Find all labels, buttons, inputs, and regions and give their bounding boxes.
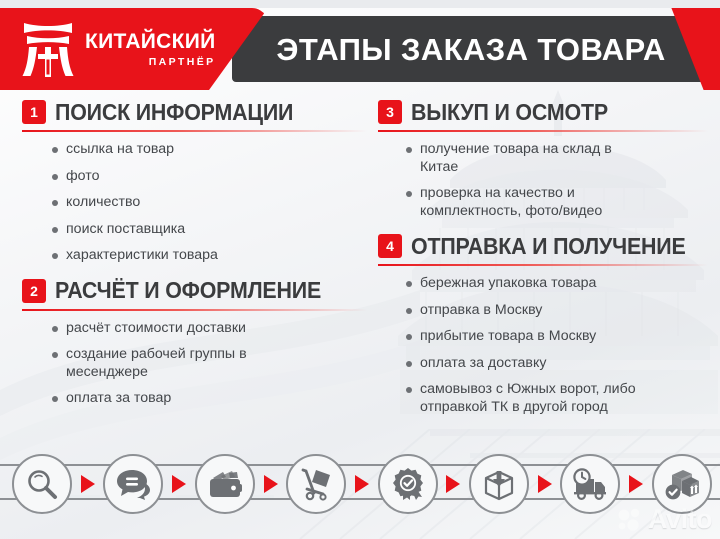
red-triangle-arrow-icon [81,475,95,493]
promo-infographic: ЭТАПЫ ЗАКАЗА ТОВАРА КИТАЙСКИЙ ПАРТНЁР [0,0,720,539]
section-3-rule [378,130,708,132]
red-triangle-arrow-icon [355,475,369,493]
delivery-truck-clock-icon[interactable] [560,454,620,514]
section-1-rule [22,130,367,132]
section-1-title: ПОИСК ИНФОРМАЦИИ [55,101,293,124]
section-2: 2 РАСЧЁТ И ОФОРМЛЕНИЕ расчёт стоимости д… [22,279,367,408]
list-item: количество [52,194,367,212]
wallet-icon[interactable] [195,454,255,514]
avito-watermark-text: Avito [648,506,712,533]
list-item: фото [52,168,367,186]
section-3-header: 3 ВЫКУП И ОСМОТР [378,100,708,130]
quality-badge-icon[interactable] [378,454,438,514]
process-steps-row [12,443,712,525]
brand-logo-text: КИТАЙСКИЙ ПАРТНЁР [85,31,216,68]
list-item: самовывоз с Южных ворот, либо отправкой … [406,381,688,416]
list-item: оплата за доставку [406,355,708,373]
section-4-header: 4 ОТПРАВКА И ПОЛУЧЕНИЕ [378,234,708,264]
section-2-rule [22,309,367,311]
section-2-header: 2 РАСЧЁТ И ОФОРМЛЕНИЕ [22,279,367,309]
section-2-title: РАСЧЁТ И ОФОРМЛЕНИЕ [55,279,321,302]
red-triangle-arrow-icon [172,475,186,493]
header-banner: ЭТАПЫ ЗАКАЗА ТОВАРА КИТАЙСКИЙ ПАРТНЁР [0,8,720,92]
section-2-number: 2 [22,279,46,303]
section-4-title: ОТПРАВКА И ПОЛУЧЕНИЕ [411,235,686,258]
column-left: 1 ПОИСК ИНФОРМАЦИИ ссылка на товар фото … [22,100,367,417]
page-title: ЭТАПЫ ЗАКАЗА ТОВАРА [246,16,696,82]
brand-logo[interactable]: КИТАЙСКИЙ ПАРТНЁР [20,20,216,78]
section-1-number: 1 [22,100,46,124]
avito-dots-icon [618,508,644,532]
section-1: 1 ПОИСК ИНФОРМАЦИИ ссылка на товар фото … [22,100,367,265]
red-triangle-arrow-icon [629,475,643,493]
top-strip [0,0,720,8]
list-item: расчёт стоимости доставки [52,320,367,338]
list-item: ссылка на товар [52,141,367,159]
chat-bubbles-icon[interactable] [103,454,163,514]
red-triangle-arrow-icon [538,475,552,493]
list-item: отправка в Москву [406,302,708,320]
list-item: поиск поставщика [52,221,367,239]
hand-truck-icon[interactable] [286,454,346,514]
column-right: 3 ВЫКУП И ОСМОТР получение товара на скл… [378,100,708,425]
brand-tagline: ПАРТНЁР [85,57,216,68]
avito-watermark: Avito [618,506,712,533]
list-item: проверка на качество и комплектность, фо… [406,185,660,220]
list-item: характеристики товара [52,247,367,265]
section-1-list: ссылка на товар фото количество поиск по… [22,141,367,265]
section-3-title: ВЫКУП И ОСМОТР [411,101,608,124]
list-item: прибытие товара в Москву [406,328,708,346]
list-item: бережная упаковка товара [406,275,708,293]
section-4-rule [378,264,708,266]
steps-columns: 1 ПОИСК ИНФОРМАЦИИ ссылка на товар фото … [0,100,720,445]
red-triangle-arrow-icon [446,475,460,493]
section-4-number: 4 [378,234,402,258]
box-download-icon[interactable] [469,454,529,514]
section-1-header: 1 ПОИСК ИНФОРМАЦИИ [22,100,367,130]
section-4: 4 ОТПРАВКА И ПОЛУЧЕНИЕ бережная упаковка… [378,234,708,416]
brand-name: КИТАЙСКИЙ [85,31,216,52]
process-strip [0,443,720,539]
section-4-list: бережная упаковка товара отправка в Моск… [378,275,708,416]
list-item: создание рабочей группы в месенджере [52,346,266,381]
section-2-list: расчёт стоимости доставки создание рабоч… [22,320,367,408]
list-item: оплата за товар [52,390,367,408]
section-3-number: 3 [378,100,402,124]
list-item: получение товара на склад в Китае [406,141,652,176]
magnifier-icon[interactable] [12,454,72,514]
red-triangle-arrow-icon [264,475,278,493]
section-3-list: получение товара на склад в Китае провер… [378,141,708,220]
section-3: 3 ВЫКУП И ОСМОТР получение товара на скл… [378,100,708,220]
torii-gate-icon [20,20,76,78]
